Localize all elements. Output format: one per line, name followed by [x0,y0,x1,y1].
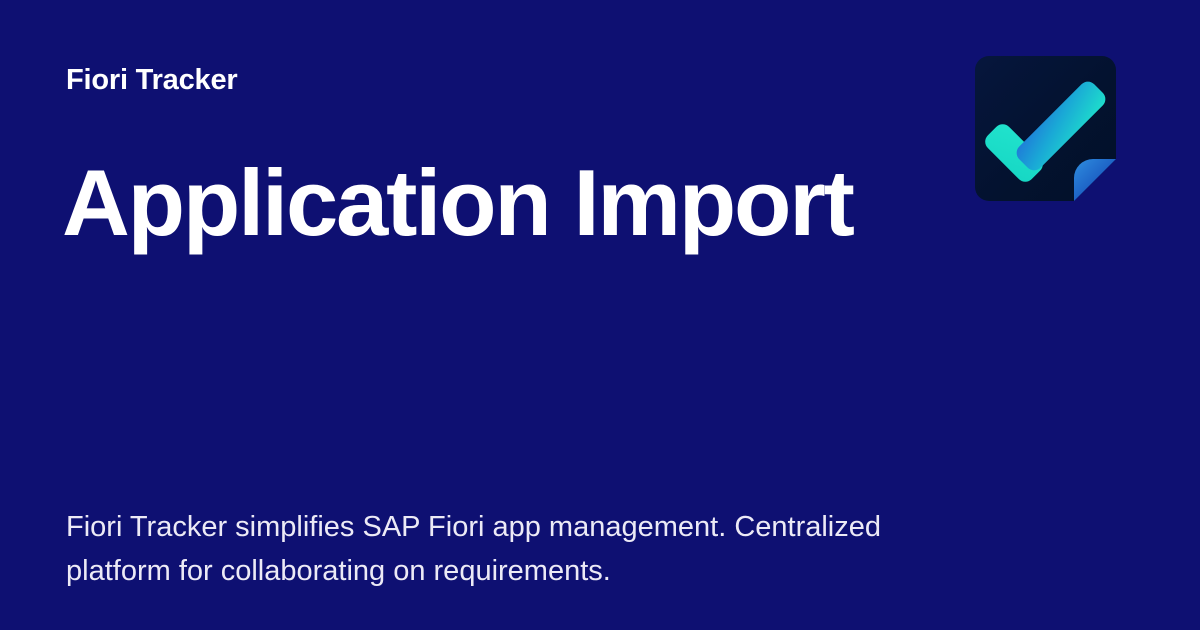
checkmark-logo-icon [975,56,1116,201]
page-description: Fiori Tracker simplifies SAP Fiori app m… [66,505,886,593]
brand-name: Fiori Tracker [66,66,238,95]
page-curl-shape [1074,159,1116,201]
app-logo [975,56,1116,201]
og-card: Fiori Tracker [0,0,1200,630]
page-title: Application Import [62,152,922,254]
